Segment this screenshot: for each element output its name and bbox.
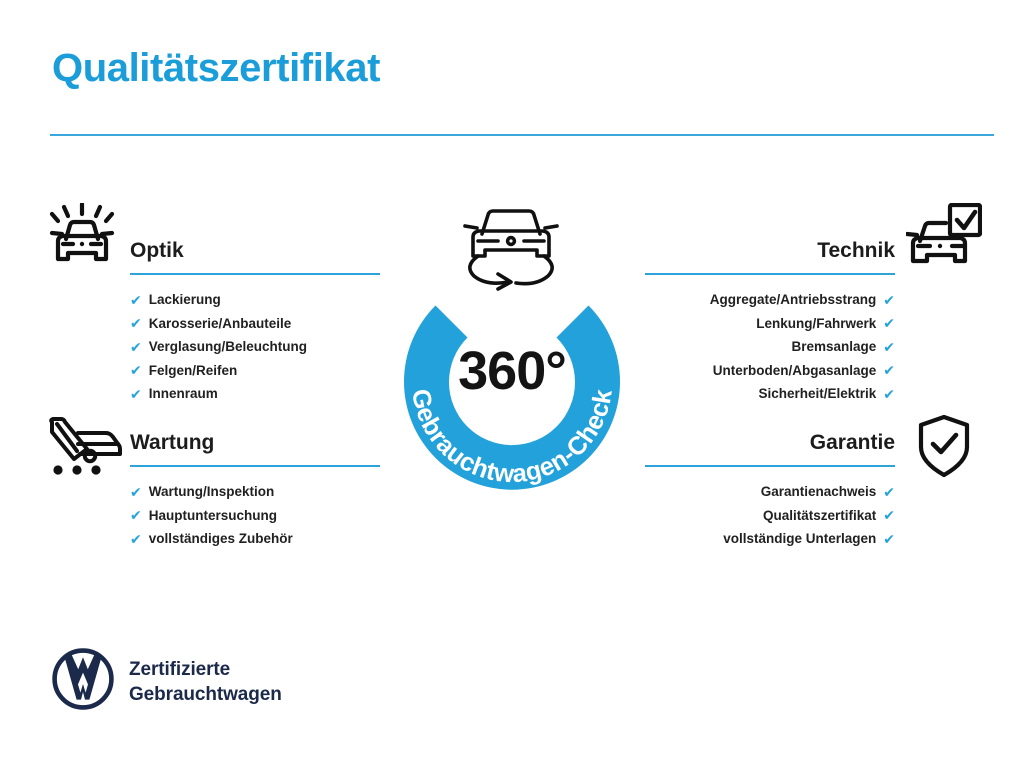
checklist-garantie: Garantienachweis ✔ Qualitätszertifikat ✔… xyxy=(645,480,895,551)
footer-brand: Zertifizierte Gebrauchtwagen xyxy=(52,648,282,715)
360-check-badge: Gebrauchtwagen-Check 360° xyxy=(378,248,646,516)
list-item-label: Felgen/Reifen xyxy=(149,359,238,383)
check-icon: ✔ xyxy=(883,485,895,499)
list-item: ✔ Hauptuntersuchung xyxy=(130,504,380,528)
list-item-label: Aggregate/Antriebsstrang xyxy=(710,288,877,312)
list-item: Sicherheit/Elektrik ✔ xyxy=(645,382,895,406)
list-item: vollständige Unterlagen ✔ xyxy=(645,527,895,551)
check-icon: ✔ xyxy=(883,316,895,330)
section-title: Wartung xyxy=(130,428,380,458)
car-front-checkbox-icon xyxy=(906,203,982,274)
check-icon: ✔ xyxy=(130,532,142,546)
section-header-optik: Optik xyxy=(130,236,380,280)
list-item-label: Qualitätszertifikat xyxy=(763,504,876,528)
check-icon: ✔ xyxy=(883,293,895,307)
checklist-technik: Aggregate/Antriebsstrang ✔ Lenkung/Fahrw… xyxy=(645,288,895,406)
section-underline xyxy=(645,465,895,467)
page-title: Qualitätszertifikat xyxy=(52,46,380,90)
list-item: Garantienachweis ✔ xyxy=(645,480,895,504)
check-icon: ✔ xyxy=(130,485,142,499)
list-item-label: Unterboden/Abgasanlage xyxy=(713,359,877,383)
check-icon: ✔ xyxy=(130,293,142,307)
list-item-label: Hauptuntersuchung xyxy=(149,504,277,528)
check-icon: ✔ xyxy=(883,387,895,401)
check-icon: ✔ xyxy=(883,508,895,522)
list-item-label: Sicherheit/Elektrik xyxy=(758,382,876,406)
section-wartung: Wartung ✔ Wartung/Inspektion ✔ Hauptunte… xyxy=(130,428,380,551)
list-item: ✔ Wartung/Inspektion xyxy=(130,480,380,504)
certificate-page: Qualitätszertifikat xyxy=(0,0,1024,768)
section-header-wartung: Wartung xyxy=(130,428,380,472)
list-item-label: Innenraum xyxy=(149,382,218,406)
footer-brand-text: Zertifizierte Gebrauchtwagen xyxy=(129,657,282,707)
check-icon: ✔ xyxy=(883,340,895,354)
check-icon: ✔ xyxy=(883,532,895,546)
check-icon: ✔ xyxy=(130,508,142,522)
list-item: Qualitätszertifikat ✔ xyxy=(645,504,895,528)
list-item: Aggregate/Antriebsstrang ✔ xyxy=(645,288,895,312)
list-item-label: Bremsanlage xyxy=(791,335,876,359)
list-item-label: Lackierung xyxy=(149,288,221,312)
section-underline xyxy=(130,273,380,275)
car-front-headlights-icon xyxy=(46,203,118,274)
checklist-wartung: ✔ Wartung/Inspektion ✔ Hauptuntersuchung… xyxy=(130,480,380,551)
list-item: Lenkung/Fahrwerk ✔ xyxy=(645,312,895,336)
check-icon: ✔ xyxy=(130,316,142,330)
section-header-technik: Technik xyxy=(645,236,895,280)
list-item: Bremsanlage ✔ xyxy=(645,335,895,359)
section-optik: Optik ✔ Lackierung ✔ Karosserie/Anbautei… xyxy=(130,236,380,406)
section-underline xyxy=(130,465,380,467)
checklist-optik: ✔ Lackierung ✔ Karosserie/Anbauteile ✔ V… xyxy=(130,288,380,406)
list-item-label: Wartung/Inspektion xyxy=(149,480,275,504)
footer-line-1: Zertifizierte xyxy=(129,657,282,682)
section-underline xyxy=(645,273,895,275)
list-item: Unterboden/Abgasanlage ✔ xyxy=(645,359,895,383)
footer-line-2: Gebrauchtwagen xyxy=(129,682,282,707)
list-item: ✔ Felgen/Reifen xyxy=(130,359,380,383)
section-title: Garantie xyxy=(645,428,895,458)
section-technik: Technik Aggregate/Antriebsstrang ✔ Lenku… xyxy=(645,236,895,406)
check-icon: ✔ xyxy=(883,363,895,377)
check-icon: ✔ xyxy=(130,340,142,354)
list-item: ✔ Verglasung/Beleuchtung xyxy=(130,335,380,359)
section-title: Optik xyxy=(130,236,380,266)
list-item: ✔ Lackierung xyxy=(130,288,380,312)
section-title: Technik xyxy=(645,236,895,266)
list-item-label: Lenkung/Fahrwerk xyxy=(756,312,876,336)
list-item-label: Verglasung/Beleuchtung xyxy=(149,335,307,359)
list-item: ✔ vollständiges Zubehör xyxy=(130,527,380,551)
list-item-label: Karosserie/Anbauteile xyxy=(149,312,292,336)
section-garantie: Garantie Garantienachweis ✔ Qualitätszer… xyxy=(645,428,895,551)
list-item-label: Garantienachweis xyxy=(761,480,877,504)
list-item-label: vollständiges Zubehör xyxy=(149,527,293,551)
check-icon: ✔ xyxy=(130,387,142,401)
shield-check-icon xyxy=(916,414,972,483)
vw-logo-icon xyxy=(52,648,114,715)
check-icon: ✔ xyxy=(130,363,142,377)
list-item-label: vollständige Unterlagen xyxy=(723,527,876,551)
list-item: ✔ Innenraum xyxy=(130,382,380,406)
section-header-garantie: Garantie xyxy=(645,428,895,472)
list-item: ✔ Karosserie/Anbauteile xyxy=(130,312,380,336)
title-divider xyxy=(50,134,994,136)
pencil-car-service-icon xyxy=(44,416,122,483)
